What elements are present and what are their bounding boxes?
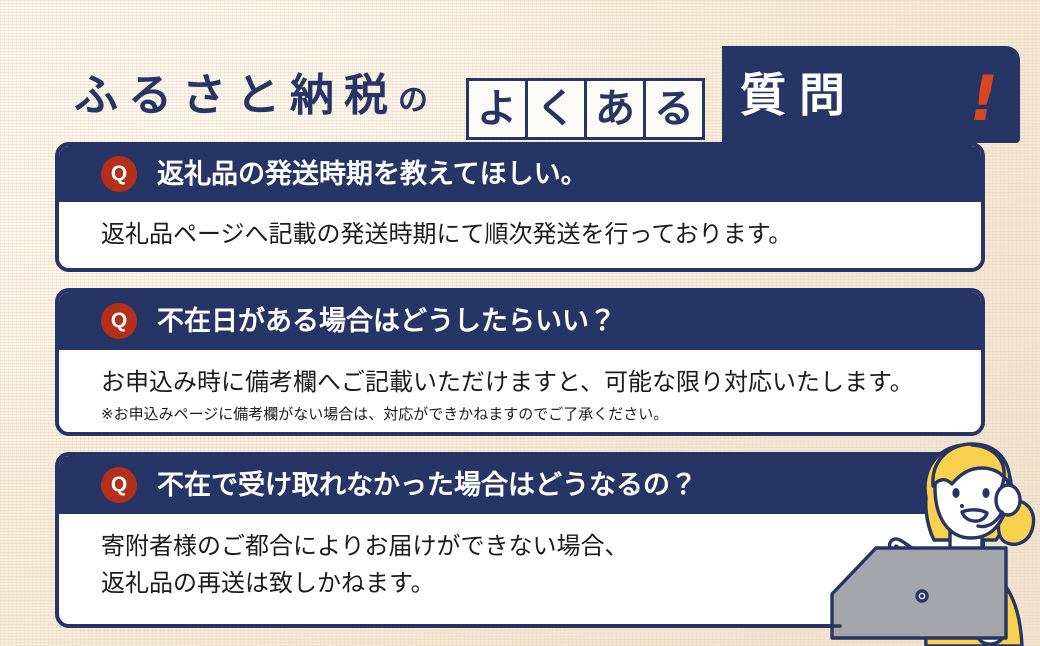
resting-hand — [977, 622, 1004, 644]
faq-answer-area: 返礼品ページへ記載の発送時期にて順次発送を行っております。 — [59, 202, 981, 263]
kana-box-4: る — [643, 78, 705, 140]
kana-box-1: よ — [466, 78, 528, 140]
faq-answer-line: 返礼品の再送は致しかねます。 — [101, 565, 961, 602]
kana-box-2: く — [525, 78, 587, 140]
q-badge-icon: Q — [101, 467, 137, 503]
faq-card[interactable]: Q 不在日がある場合はどうしたらいい？ お申込み時に備考欄へご記載いただけますと… — [55, 288, 985, 436]
header: ふるさと納税の よ く あ る 質問 ! — [0, 18, 1040, 138]
headset-earpiece — [996, 485, 1020, 515]
faq-graphic-canvas: ふるさと納税の よ く あ る 質問 ! Q 返礼品の発送時期を教えてほしい。 … — [0, 0, 1040, 646]
faq-answer-line: 返礼品ページへ記載の発送時期にて順次発送を行っております。 — [101, 216, 961, 253]
ponytail — [998, 500, 1033, 545]
page-title-main: ふるさと納税 — [74, 70, 398, 121]
q-badge-icon: Q — [101, 303, 137, 339]
faq-question-text: 不在で受け取れなかった場合はどうなるの？ — [157, 472, 697, 499]
page-title: ふるさと納税の — [74, 74, 430, 118]
page-title-particle: の — [398, 83, 430, 118]
faq-question-text: 返礼品の発送時期を教えてほしい。 — [157, 161, 588, 188]
faq-answer-line: 寄附者様のご都合によりお届けができない場合、 — [101, 528, 961, 565]
faq-card[interactable]: Q 不在で受け取れなかった場合はどうなるの？ 寄附者様のご都合によりお届けができ… — [55, 452, 985, 628]
exclamation-mark-icon: ! — [970, 68, 998, 130]
faq-card[interactable]: Q 返礼品の発送時期を教えてほしい。 返礼品ページへ記載の発送時期にて順次発送を… — [55, 142, 985, 272]
faq-question-bar: Q 不在で受け取れなかった場合はどうなるの？ — [59, 456, 981, 514]
faq-answer-note: ※お申込みページに備考欄がない場合は、対応ができかねますのでご了承ください。 — [101, 403, 961, 426]
banner-label: 質問 — [740, 72, 858, 118]
q-badge-icon: Q — [101, 156, 137, 192]
faq-question-bar: Q 返礼品の発送時期を教えてほしい。 — [59, 146, 981, 202]
kana-box-group: よ く あ る — [466, 78, 705, 140]
faq-answer-line: お申込み時に備考欄へご記載いただけますと、可能な限り対応いたします。 — [101, 364, 961, 401]
faq-answer-area: 寄附者様のご都合によりお届けができない場合、 返礼品の再送は致しかねます。 — [59, 514, 981, 612]
faq-answer-area: お申込み時に備考欄へご記載いただけますと、可能な限り対応いたします。 ※お申込み… — [59, 350, 981, 436]
faq-question-bar: Q 不在日がある場合はどうしたらいい？ — [59, 292, 981, 350]
question-banner: 質問 ! — [722, 46, 1020, 143]
faq-question-text: 不在日がある場合はどうしたらいい？ — [157, 308, 616, 335]
kana-box-3: あ — [584, 78, 646, 140]
